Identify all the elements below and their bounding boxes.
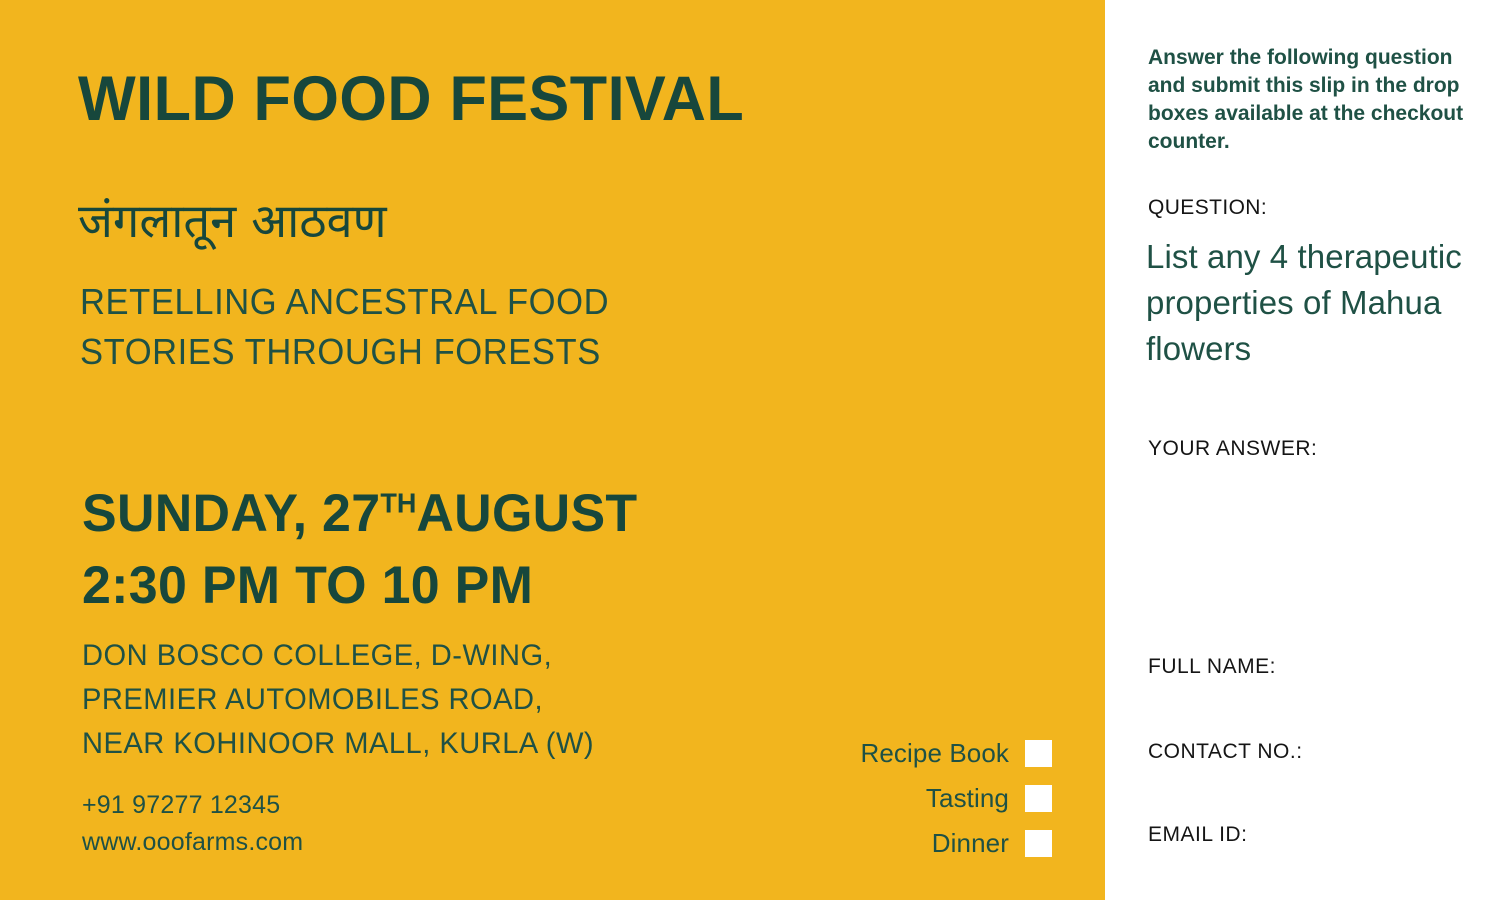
address-line-2: PREMIER AUTOMOBILES ROAD, xyxy=(82,678,594,722)
subtitle-line-2: STORIES THROUGH FORESTS xyxy=(80,327,609,377)
option-row-tasting[interactable]: Tasting xyxy=(780,776,1052,821)
contact-no-label: CONTACT NO.: xyxy=(1148,740,1303,764)
contact-details: +91 97277 12345 www.ooofarms.com xyxy=(82,787,303,861)
option-label-tasting: Tasting xyxy=(926,783,1025,814)
date-ordinal-suffix: TH xyxy=(380,487,416,518)
event-time: 2:30 PM TO 10 PM xyxy=(82,550,637,622)
email-id-label: EMAIL ID: xyxy=(1148,823,1247,847)
full-name-label: FULL NAME: xyxy=(1148,655,1276,679)
question-text: List any 4 therapeutic properties of Mah… xyxy=(1146,234,1476,372)
option-row-dinner[interactable]: Dinner xyxy=(780,821,1052,866)
event-datetime: SUNDAY, 27THAUGUST 2:30 PM TO 10 PM xyxy=(82,478,637,622)
marathi-title: जंगलातून आठवण xyxy=(78,196,387,248)
checkbox-recipe-book[interactable] xyxy=(1025,740,1052,767)
options-checklist: Recipe Book Tasting Dinner xyxy=(780,731,1052,866)
your-answer-label: YOUR ANSWER: xyxy=(1148,437,1317,461)
address-line-3: NEAR KOHINOOR MALL, KURLA (W) xyxy=(82,722,594,766)
event-info-panel: WILD FOOD FESTIVAL जंगलातून आठवण RETELLI… xyxy=(0,0,1105,900)
option-label-recipe-book: Recipe Book xyxy=(860,738,1025,769)
option-label-dinner: Dinner xyxy=(932,828,1025,859)
checkbox-tasting[interactable] xyxy=(1025,785,1052,812)
address-line-1: DON BOSCO COLLEGE, D-WING, xyxy=(82,634,594,678)
event-date-prefix: SUNDAY, 27 xyxy=(82,484,380,543)
contact-phone: +91 97277 12345 xyxy=(82,787,303,824)
subtitle-line-1: RETELLING ANCESTRAL FOOD xyxy=(80,277,609,327)
question-label: QUESTION: xyxy=(1148,196,1267,220)
event-date-month: AUGUST xyxy=(416,484,637,543)
event-subtitle: RETELLING ANCESTRAL FOOD STORIES THROUGH… xyxy=(80,277,609,377)
event-address: DON BOSCO COLLEGE, D-WING, PREMIER AUTOM… xyxy=(82,634,594,766)
submission-instructions: Answer the following question and submit… xyxy=(1148,44,1468,156)
answer-slip-panel: Answer the following question and submit… xyxy=(1105,0,1501,900)
event-date: SUNDAY, 27THAUGUST xyxy=(82,478,637,550)
option-row-recipe-book[interactable]: Recipe Book xyxy=(780,731,1052,776)
festival-flyer: WILD FOOD FESTIVAL जंगलातून आठवण RETELLI… xyxy=(0,0,1501,900)
page-title: WILD FOOD FESTIVAL xyxy=(78,68,744,131)
checkbox-dinner[interactable] xyxy=(1025,830,1052,857)
contact-website[interactable]: www.ooofarms.com xyxy=(82,824,303,861)
